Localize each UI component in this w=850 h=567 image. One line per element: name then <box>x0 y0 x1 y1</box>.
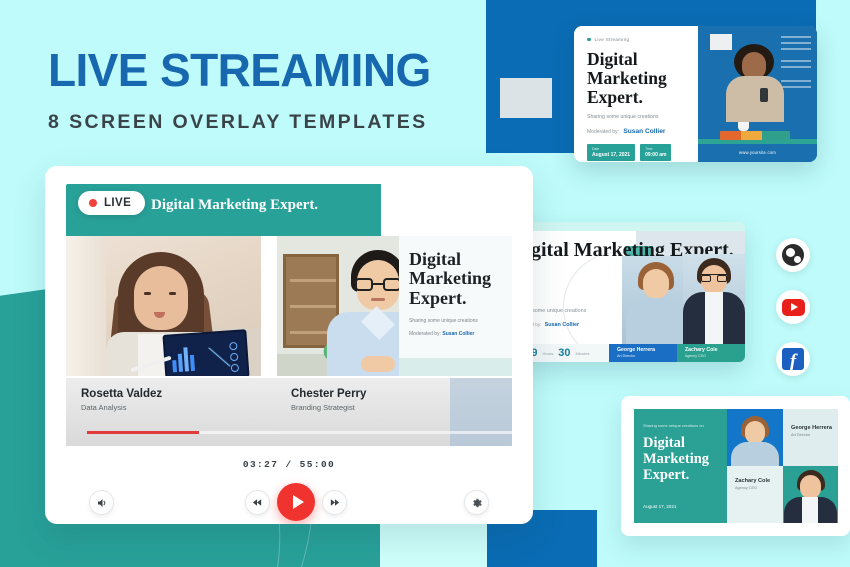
card-date: August 17, 2021 <box>643 504 676 509</box>
moderator-name: Susan Collier <box>545 322 579 328</box>
timecode-label: 03:27 / 55:00 <box>45 459 533 470</box>
grid-title-tile: Sharing some unique creations on Digital… <box>634 409 727 523</box>
card-top-right-photo: www.yoursite.com <box>698 26 817 162</box>
presenter-photo-zachary <box>683 254 745 344</box>
participant-video-rosetta[interactable] <box>66 236 261 376</box>
presenter-role: Agency CEO <box>735 486 783 490</box>
presenter-photo-george <box>622 256 688 344</box>
presenter-role: Art Director <box>617 354 677 358</box>
grid-photo-george <box>727 409 783 466</box>
card-title: Digital Marketing Expert. <box>587 50 687 107</box>
peek-subtitle: Sharing some unique creations <box>409 318 478 324</box>
social-button-obs[interactable] <box>776 238 810 272</box>
volume-icon <box>96 497 108 509</box>
stage-title-text: Digital Marketing Expert. <box>151 197 318 214</box>
countdown-minutes-unit: Minutes <box>575 351 589 356</box>
card-subtitle: Sharing some unique creations <box>587 114 687 120</box>
tag-label: Live Streaming <box>595 37 630 42</box>
speaker-role: Data Analysis <box>81 403 162 412</box>
progress-buffered <box>199 431 279 434</box>
time-badge: Time 09:00 am <box>640 144 671 161</box>
moderator-prefix: Moderated by: <box>587 129 619 135</box>
headline-block: LIVE STREAMING 8 SCREEN OVERLAY TEMPLATE… <box>48 47 431 134</box>
presenter-name: Zachary Cole <box>735 478 783 484</box>
live-dot-icon <box>89 199 97 207</box>
facebook-icon: f <box>782 348 804 370</box>
presenter-name: George Herrera <box>791 425 838 431</box>
card-top-right-content: Live Streaming Digital Marketing Expert.… <box>574 26 698 162</box>
page-subtitle: 8 SCREEN OVERLAY TEMPLATES <box>48 111 431 134</box>
speaker-name: Chester Perry <box>291 388 366 400</box>
card-bottom-grid: Sharing some unique creations on Digital… <box>634 409 837 523</box>
presenter-name: George Herrera <box>617 347 677 353</box>
speaker-name: Rosetta Valdez <box>81 388 162 400</box>
presenter-nameplate-george: George Herrera Art Director <box>609 344 677 362</box>
card-footer-bar: Start in 19 Hours 30 Minutes George Herr… <box>497 344 745 362</box>
overlay-card-mid-right[interactable]: Digital Marketing Expert. Sharing some u… <box>497 222 745 362</box>
peek-moderator-prefix: Moderated by: <box>409 331 441 337</box>
social-button-facebook[interactable]: f <box>776 342 810 376</box>
player-controls <box>45 482 533 524</box>
grid-photo-zachary <box>783 466 838 523</box>
time-badge-value: 09:00 am <box>645 152 666 158</box>
page-title: LIVE STREAMING <box>48 47 431 93</box>
play-icon <box>293 495 304 509</box>
settings-gear-icon <box>471 497 483 509</box>
overlay-card-top-right[interactable]: Live Streaming Digital Marketing Expert.… <box>574 26 817 162</box>
peek-moderator: Moderated by: Susan Collier <box>409 331 474 337</box>
speaker-caption-bar: Rosetta Valdez Data Analysis Chester Per… <box>66 378 512 446</box>
forward-button[interactable] <box>322 490 347 515</box>
speaker-caption-1: Rosetta Valdez Data Analysis <box>81 388 162 412</box>
card-title: Digital Marketing Expert. <box>643 436 718 484</box>
speaker-role: Branding Strategist <box>291 403 366 412</box>
presenter-role: Agency CEO <box>685 354 745 358</box>
peek-moderator-name: Susan Collier <box>442 331 474 337</box>
forward-icon <box>329 497 340 508</box>
live-badge-label: LIVE <box>104 197 131 209</box>
obs-icon <box>782 244 804 266</box>
peek-title: Digital Marketing Expert. <box>409 250 512 308</box>
video-player-card[interactable]: Digital Marketing Expert. LIVE <box>45 166 533 524</box>
date-badge: Date August 17, 2021 <box>587 144 635 161</box>
date-badge-key: Date <box>592 147 630 151</box>
date-badge-value: August 17, 2021 <box>592 152 630 158</box>
presenter-nameplate-zachary: Zachary Cole Agency CEO <box>677 344 745 362</box>
live-badge: LIVE <box>78 191 145 215</box>
rewind-button[interactable] <box>245 490 270 515</box>
card-badges: Date August 17, 2021 Time 09:00 am <box>587 144 687 161</box>
card-moderator-row: Moderated by: Susan Collier <box>587 128 687 135</box>
peek-footer-bar <box>399 358 512 376</box>
grid-nameplate-george: George Herrera Art Director <box>783 409 838 466</box>
progress-played <box>87 431 199 434</box>
presenter-name: Zachary Cole <box>685 347 745 353</box>
youtube-icon <box>782 299 805 316</box>
rewind-icon <box>252 497 263 508</box>
caption-bar-tail <box>450 378 512 446</box>
volume-button[interactable] <box>89 490 114 515</box>
play-button[interactable] <box>277 483 315 521</box>
player-peek-panel: Digital Marketing Expert. Sharing some u… <box>399 236 512 376</box>
live-streaming-tag: Live Streaming <box>587 37 687 42</box>
grid-nameplate-zachary: Zachary Cole Agency CEO <box>727 466 783 523</box>
presenter-role: Art Director <box>791 433 838 437</box>
settings-button[interactable] <box>464 490 489 515</box>
social-icon-list: f <box>776 238 810 394</box>
background-shape-gray-square <box>500 78 552 118</box>
countdown-hours-unit: Hours <box>543 351 554 356</box>
card-url: www.yoursite.com <box>698 150 817 155</box>
moderator-name: Susan Collier <box>623 128 665 135</box>
speaker-caption-2: Chester Perry Branding Strategist <box>291 388 366 412</box>
poster-canvas: LIVE STREAMING 8 SCREEN OVERLAY TEMPLATE… <box>0 0 850 567</box>
progress-bar[interactable] <box>87 431 533 434</box>
tag-dot-icon <box>587 38 591 42</box>
social-button-youtube[interactable] <box>776 290 810 324</box>
time-badge-key: Time <box>645 147 666 151</box>
countdown-minutes-value: 30 <box>558 347 570 359</box>
card-kicker: Sharing some unique creations on <box>643 423 718 429</box>
overlay-card-bottom-right[interactable]: Sharing some unique creations on Digital… <box>621 396 850 536</box>
